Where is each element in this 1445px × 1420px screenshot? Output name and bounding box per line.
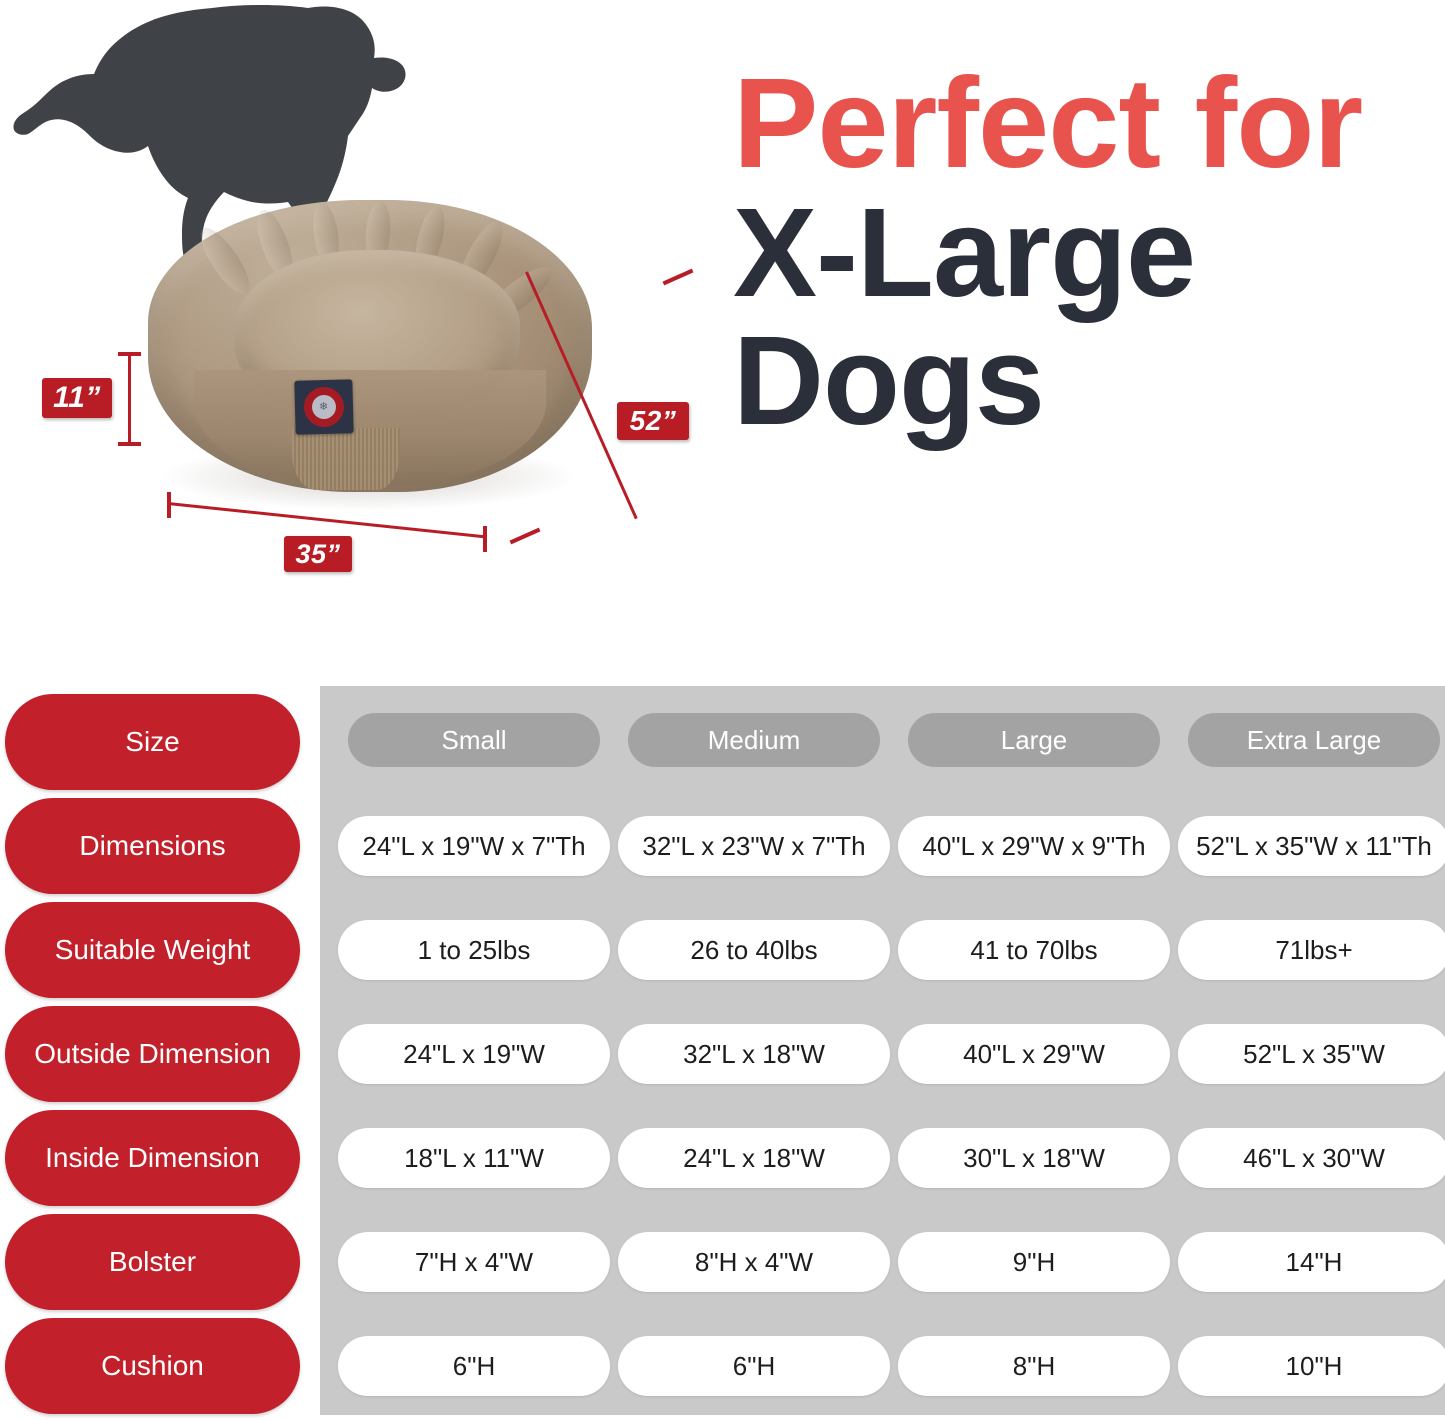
dimension-badge-width: 35” [284,536,352,572]
column-header-large: Large [908,713,1160,767]
table-cell: 52"L x 35"W x 11"Th [1178,816,1445,876]
table-cell: 1 to 25lbs [338,920,610,980]
table-cell: 40"L x 29"W [898,1024,1170,1084]
row-label-size: Size [5,694,300,790]
table-cell: 18"L x 11"W [338,1128,610,1188]
table-cell: 46"L x 30"W [1178,1128,1445,1188]
row-label-cushion: Cushion [5,1318,300,1414]
measure-cap-length-top [663,269,694,286]
measure-line-height [128,352,131,446]
table-cell: 52"L x 35"W [1178,1024,1445,1084]
measure-cap-top [118,352,141,356]
table-cell: 32"L x 23"W x 7"Th [618,816,890,876]
table-cell-grid: Small Medium Large Extra Large 24"L x 19… [320,686,1445,1415]
measure-cap-width-right [483,526,487,552]
table-cell: 40"L x 29"W x 9"Th [898,816,1170,876]
table-cell: 6"H [618,1336,890,1396]
column-header-small: Small [348,713,600,767]
table-cell: 26 to 40lbs [618,920,890,980]
column-header-extra-large: Extra Large [1188,713,1440,767]
row-label-bolster: Bolster [5,1214,300,1310]
table-cell: 24"L x 18"W [618,1128,890,1188]
table-cell: 8"H x 4"W [618,1232,890,1292]
dimension-badge-length: 52” [617,402,689,440]
measure-cap-bottom [118,442,141,446]
row-label-outside-dimension: Outside Dimension [5,1006,300,1102]
table-cell: 14"H [1178,1232,1445,1292]
table-cell: 71lbs+ [1178,920,1445,980]
table-cell: 9"H [898,1232,1170,1292]
paw-icon: ❄ [319,402,329,412]
table-label-column: Size Dimensions Suitable Weight Outside … [0,686,310,1415]
size-chart-table: Size Dimensions Suitable Weight Outside … [0,686,1445,1420]
table-cell: 24"L x 19"W x 7"Th [338,816,610,876]
table-cell: 24"L x 19"W [338,1024,610,1084]
headline-line-2: X-Large [733,192,1445,314]
headline: Perfect for X-Large Dogs [733,62,1445,443]
table-cell: 32"L x 18"W [618,1024,890,1084]
measure-cap-length-bottom [510,528,541,545]
hero-section: ❄ 11” 52” 35” Perfect for X-Large Dogs [0,0,1445,680]
brand-tag: ❄ [294,379,353,434]
row-label-suitable-weight: Suitable Weight [5,902,300,998]
row-label-inside-dimension: Inside Dimension [5,1110,300,1206]
table-cell: 10"H [1178,1336,1445,1396]
headline-line-1: Perfect for [733,62,1445,186]
headline-line-3: Dogs [733,320,1445,442]
table-cell: 6"H [338,1336,610,1396]
table-cell: 30"L x 18"W [898,1128,1170,1188]
table-cell: 41 to 70lbs [898,920,1170,980]
dimension-badge-height: 11” [42,378,112,418]
row-label-dimensions: Dimensions [5,798,300,894]
column-header-medium: Medium [628,713,880,767]
table-cell: 7"H x 4"W [338,1232,610,1292]
bed-corduroy-panel [292,428,400,490]
table-cell: 8"H [898,1336,1170,1396]
brand-ring: ❄ [303,386,344,427]
brand-center: ❄ [312,395,337,420]
measure-cap-width-left [167,492,171,518]
product-photo: ❄ [142,192,598,514]
